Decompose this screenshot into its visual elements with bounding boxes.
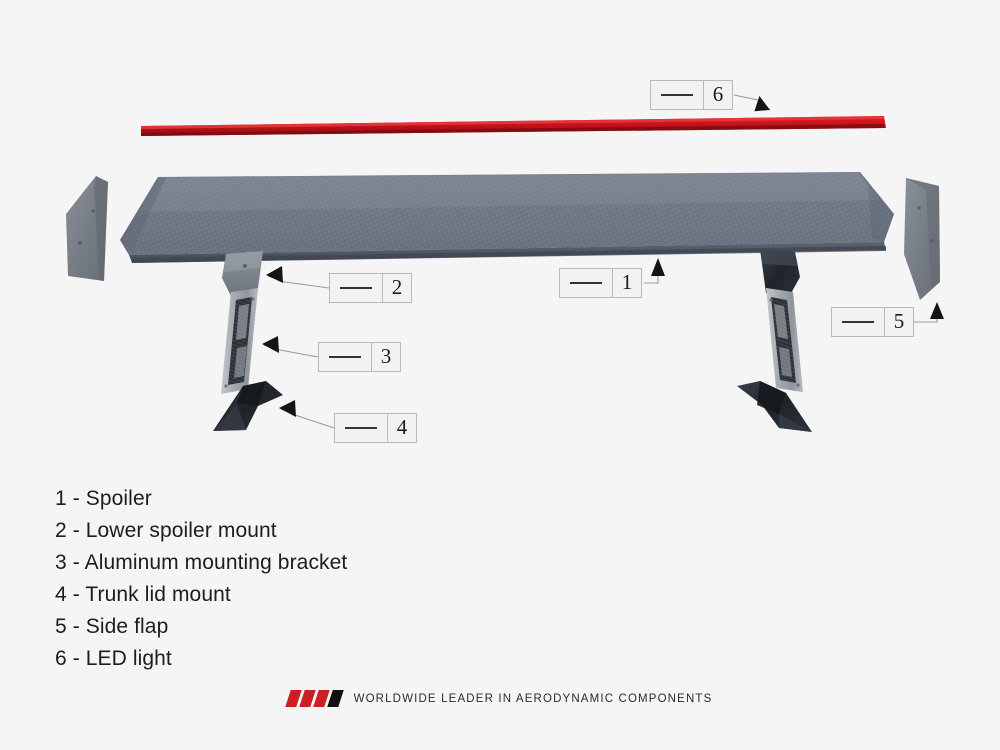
leader-lines xyxy=(264,95,937,428)
left-aluminum-bracket-part xyxy=(221,288,258,394)
led-strip-part xyxy=(141,116,886,136)
callout-number-5: 5 xyxy=(885,308,913,336)
callout-dash-cell-2 xyxy=(330,274,383,302)
brand-footer: WORLDWIDE LEADER IN AERODYNAMIC COMPONEN… xyxy=(0,690,1000,707)
callout-box-1[interactable]: 1 xyxy=(559,268,642,298)
arrowhead-2 xyxy=(266,266,283,283)
callout-box-3[interactable]: 3 xyxy=(318,342,401,372)
brand-stripe-black xyxy=(327,690,344,707)
callout-number-3: 3 xyxy=(372,343,400,371)
callout-number-4: 4 xyxy=(388,414,416,442)
arrowhead-3 xyxy=(262,336,279,353)
callout-number-1: 1 xyxy=(613,269,641,297)
arrowhead-1 xyxy=(651,258,665,276)
callout-dash-6 xyxy=(661,94,693,96)
spoiler-wing-part xyxy=(120,172,894,263)
arrowhead-4 xyxy=(279,400,296,417)
brand-tagline: WORLDWIDE LEADER IN AERODYNAMIC COMPONEN… xyxy=(354,693,713,705)
right-lower-spoiler-mount-part xyxy=(760,249,800,297)
legend-item-3: 3 - Aluminum mounting bracket xyxy=(55,547,347,579)
callout-number-2: 2 xyxy=(383,274,411,302)
callout-number-6: 6 xyxy=(704,81,732,109)
right-aluminum-bracket-part xyxy=(766,288,803,392)
brand-logo-marks xyxy=(288,690,341,707)
left-side-flap-part xyxy=(66,176,108,281)
callout-box-6[interactable]: 6 xyxy=(650,80,733,110)
callout-dash-cell-4 xyxy=(335,414,388,442)
callout-dash-cell-6 xyxy=(651,81,704,109)
parts-legend: 1 - Spoiler 2 - Lower spoiler mount 3 - … xyxy=(55,483,347,675)
callout-box-4[interactable]: 4 xyxy=(334,413,417,443)
right-strut-assembly xyxy=(737,249,812,432)
callout-dash-3 xyxy=(329,356,361,358)
right-side-flap-part xyxy=(904,178,940,300)
callout-dash-2 xyxy=(340,287,372,289)
legend-item-2: 2 - Lower spoiler mount xyxy=(55,515,347,547)
legend-item-1: 1 - Spoiler xyxy=(55,483,347,515)
callout-dash-cell-5 xyxy=(832,308,885,336)
legend-item-6: 6 - LED light xyxy=(55,643,347,675)
callout-dash-cell-1 xyxy=(560,269,613,297)
callout-dash-4 xyxy=(345,427,377,429)
callout-dash-5 xyxy=(842,321,874,323)
arrowhead-5 xyxy=(930,302,944,319)
callout-box-5[interactable]: 5 xyxy=(831,307,914,337)
diagram-canvas: 6 1 2 3 4 5 1 - Spoiler 2 - Lower spoile… xyxy=(0,0,1000,750)
callout-dash-1 xyxy=(570,282,602,284)
callout-box-2[interactable]: 2 xyxy=(329,273,412,303)
arrowhead-6 xyxy=(753,96,773,116)
legend-item-5: 5 - Side flap xyxy=(55,611,347,643)
legend-item-4: 4 - Trunk lid mount xyxy=(55,579,347,611)
callout-dash-cell-3 xyxy=(319,343,372,371)
